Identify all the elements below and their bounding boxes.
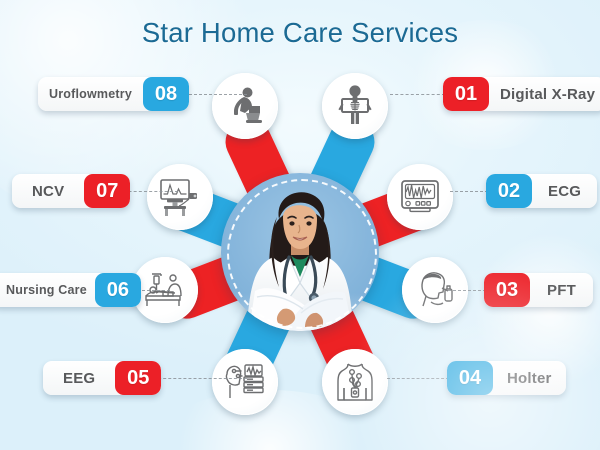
service-label-03[interactable]: 03 PFT: [484, 273, 593, 307]
service-icon-05-eeg[interactable]: [212, 349, 278, 415]
service-icon-08-uroflowmetry[interactable]: [212, 73, 278, 139]
service-icon-01-digital-xray[interactable]: [322, 73, 388, 139]
service-number-03: 03: [484, 273, 530, 307]
eeg-head-monitor-icon: [221, 358, 269, 406]
service-label-04[interactable]: 04 Holter: [447, 361, 566, 395]
service-number-01: 01: [443, 77, 489, 111]
holter-torso-electrodes-icon: [331, 358, 379, 406]
service-label-05-text: EEG: [43, 361, 115, 395]
xray-body-icon: [332, 83, 378, 129]
service-label-06-text: Nursing Care: [0, 273, 95, 307]
connector-line-02: [450, 191, 488, 192]
service-label-06[interactable]: Nursing Care 06: [0, 273, 141, 307]
service-label-02[interactable]: 02 ECG: [486, 174, 597, 208]
connector-line-03: [448, 290, 486, 291]
service-number-02: 02: [486, 174, 532, 208]
service-icon-04-holter[interactable]: [322, 349, 388, 415]
center-portrait-circle: [221, 173, 379, 331]
connector-line-01: [390, 94, 445, 95]
service-number-05: 05: [115, 361, 161, 395]
service-label-05[interactable]: EEG 05: [43, 361, 161, 395]
service-number-08: 08: [143, 77, 189, 111]
service-label-01[interactable]: 01 Digital X-Ray: [443, 77, 600, 111]
service-label-08-text: Uroflowmetry: [38, 77, 143, 111]
ecg-monitor-icon: [397, 174, 443, 220]
page-title: Star Home Care Services: [0, 17, 600, 49]
service-icon-02-ecg[interactable]: [387, 164, 453, 230]
doctor-portrait: [221, 173, 379, 331]
service-label-07[interactable]: NCV 07: [12, 174, 130, 208]
service-number-04: 04: [447, 361, 493, 395]
service-label-07-text: NCV: [12, 174, 84, 208]
service-number-07: 07: [84, 174, 130, 208]
service-label-03-text: PFT: [530, 273, 593, 307]
service-number-06: 06: [95, 273, 141, 307]
service-label-01-text: Digital X-Ray: [489, 77, 600, 111]
service-label-04-text: Holter: [493, 361, 566, 395]
uroflowmetry-toilet-icon: [222, 83, 268, 129]
service-label-02-text: ECG: [532, 174, 597, 208]
connector-line-04: [387, 378, 449, 379]
ncv-monitor-cart-icon: [156, 173, 204, 221]
infographic-canvas: Star Home Care Services: [0, 0, 600, 450]
service-label-08[interactable]: Uroflowmetry 08: [38, 77, 189, 111]
service-icon-07-ncv[interactable]: [147, 164, 213, 230]
